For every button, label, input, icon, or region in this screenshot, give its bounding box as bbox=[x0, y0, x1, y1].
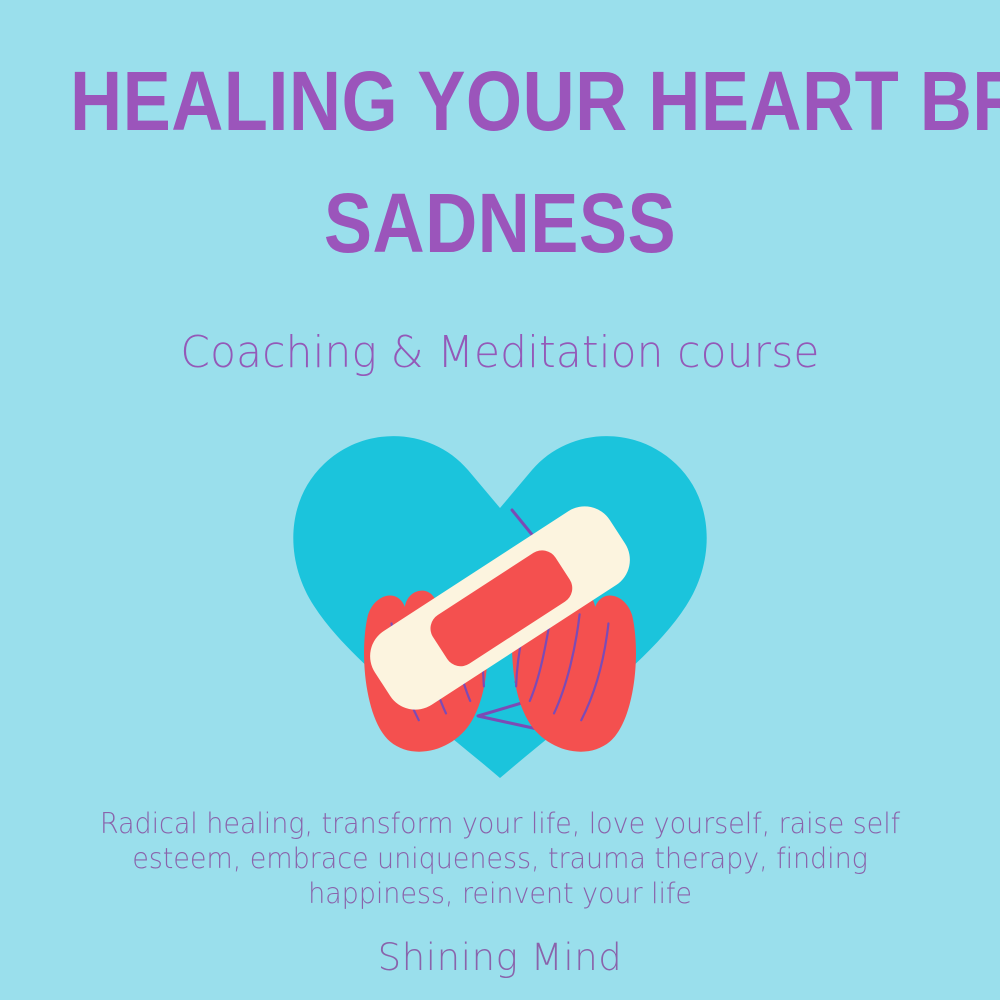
subtitle: Coaching & Meditation course bbox=[20, 325, 980, 381]
page-title: HEALING YOUR HEART BREAKUP SADNESS bbox=[0, 42, 1000, 282]
book-cover: HEALING YOUR HEART BREAKUP SADNESS Coach… bbox=[0, 0, 1000, 1000]
title-line-2: SADNESS bbox=[70, 164, 930, 282]
title-line-1: HEALING YOUR HEART BREAKUP bbox=[70, 42, 930, 160]
heart-illustration bbox=[280, 400, 720, 800]
author-name: Shining Mind bbox=[0, 934, 1000, 982]
description-text: Radical healing, transform your life, lo… bbox=[73, 806, 928, 911]
